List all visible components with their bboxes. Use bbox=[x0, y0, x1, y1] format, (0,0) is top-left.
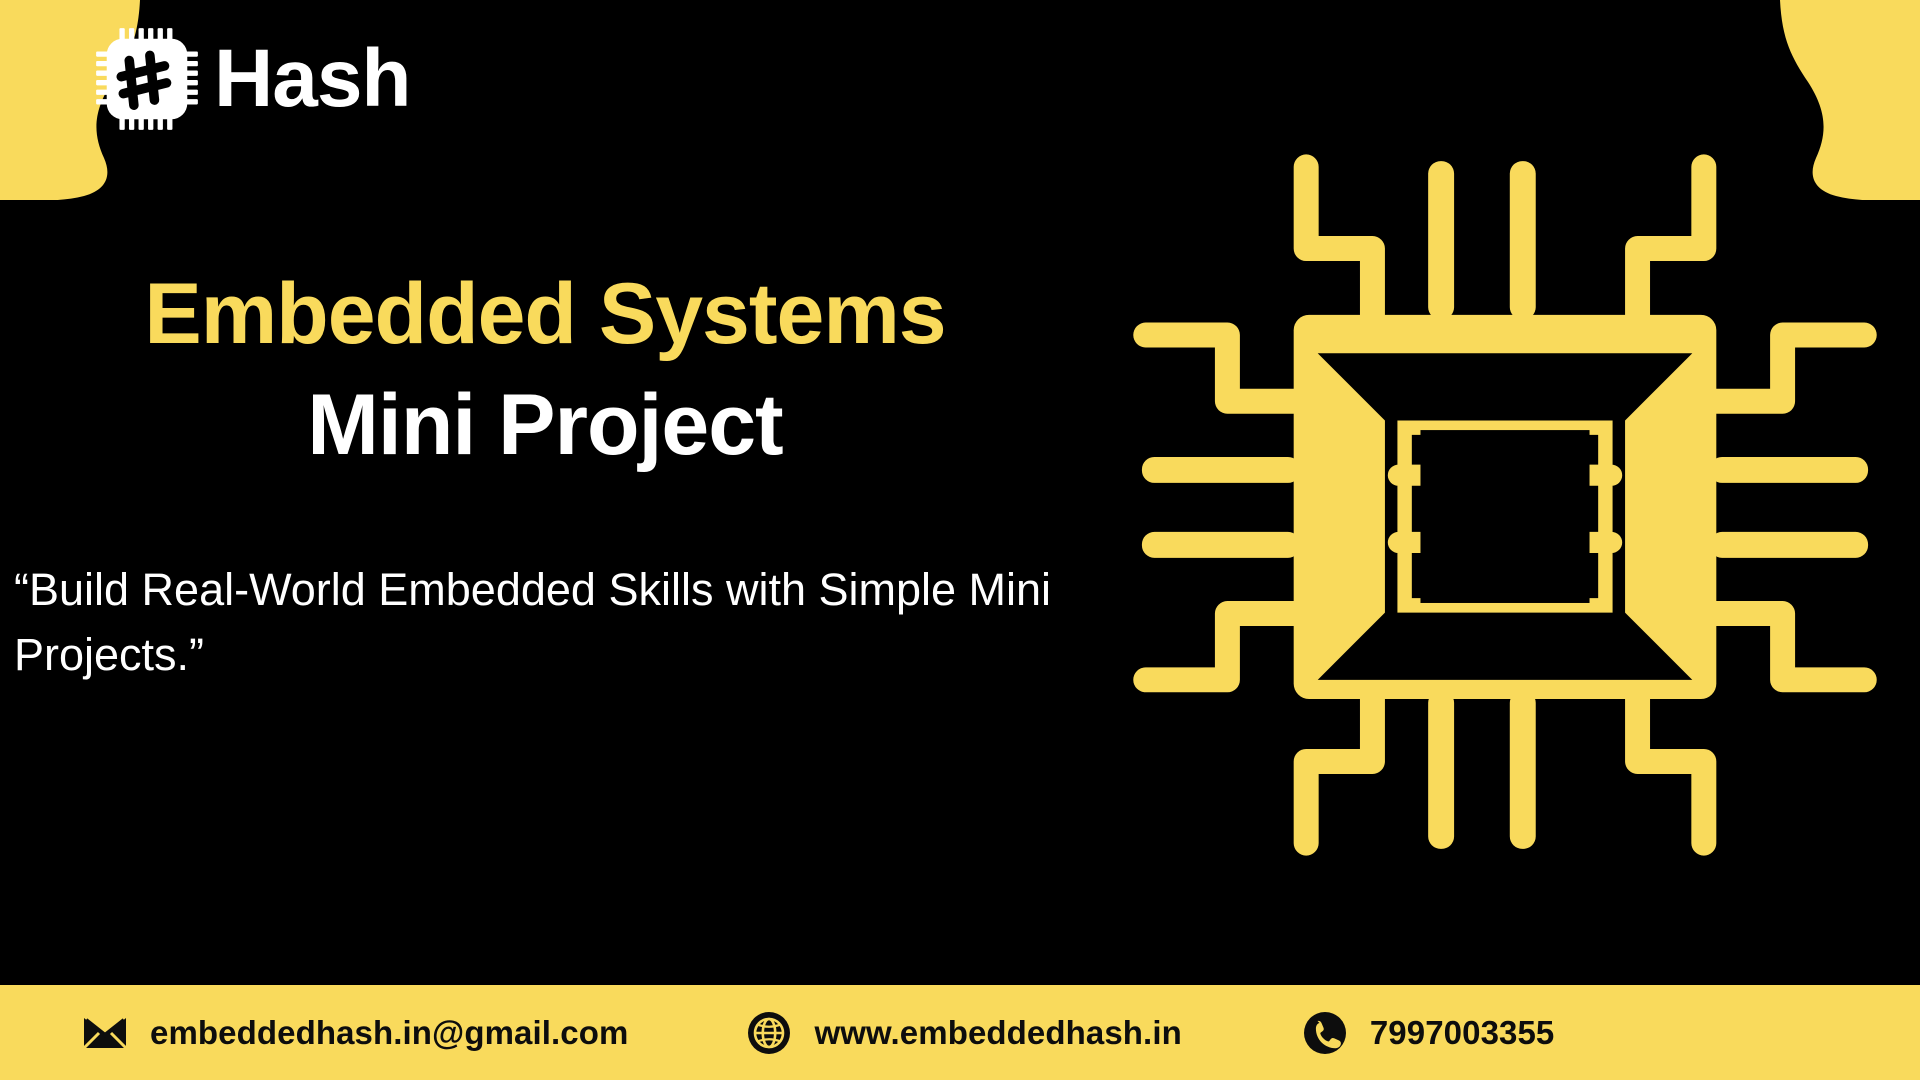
hero-copy: Embedded Systems Mini Project “Build Rea… bbox=[0, 270, 1090, 687]
contact-website[interactable]: www.embeddedhash.in bbox=[746, 1010, 1181, 1056]
contact-email[interactable]: embeddedhash.in@gmail.com bbox=[82, 1010, 628, 1056]
footer-contact-bar: embeddedhash.in@gmail.com www.embeddedha… bbox=[0, 985, 1920, 1080]
brand-name: Hash bbox=[214, 38, 411, 120]
phone-label: 7997003355 bbox=[1370, 1016, 1555, 1049]
promo-poster: Hash Embedded Systems Mini Project “Buil… bbox=[0, 0, 1920, 1080]
headline-line-2: Mini Project bbox=[0, 381, 1090, 470]
contact-phone[interactable]: 7997003355 bbox=[1302, 1010, 1555, 1056]
headline-line-1: Embedded Systems bbox=[0, 270, 1090, 359]
hero-tagline: “Build Real-World Embedded Skills with S… bbox=[0, 557, 1080, 688]
email-label: embeddedhash.in@gmail.com bbox=[150, 1016, 628, 1049]
globe-icon bbox=[746, 1010, 792, 1056]
envelope-icon bbox=[82, 1010, 128, 1056]
chip-hash-icon bbox=[94, 26, 200, 132]
microchip-icon bbox=[1125, 140, 1885, 870]
brand-logo[interactable]: Hash bbox=[94, 26, 411, 132]
website-label: www.embeddedhash.in bbox=[814, 1016, 1181, 1049]
phone-icon bbox=[1302, 1010, 1348, 1056]
